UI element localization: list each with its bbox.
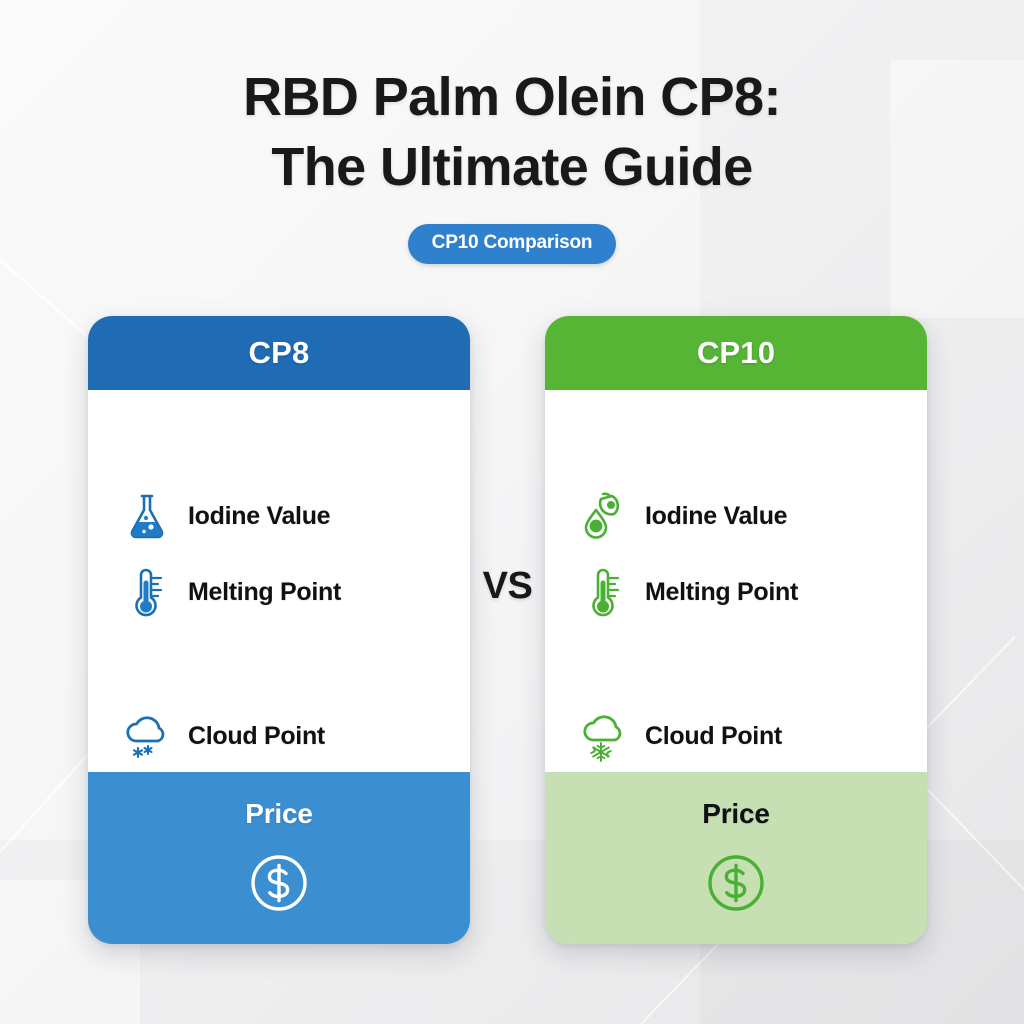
card-header-cp8: CP8 — [88, 316, 470, 390]
thermometer-icon — [581, 566, 627, 618]
feature-label-melting-point-cp10: Melting Point — [645, 578, 798, 607]
flask-icon — [124, 490, 170, 542]
thermometer-icon — [124, 566, 170, 618]
card-body-cp8: Iodine Value — [88, 390, 470, 772]
badge-container: CP10 Comparison — [0, 224, 1024, 264]
feature-row-iodine-value-cp10: Iodine Value — [581, 490, 907, 542]
card-title-cp10: CP10 — [697, 335, 775, 371]
feature-row-iodine-value-cp8: Iodine Value — [124, 490, 450, 542]
page-title-line-1: RBD Palm Olein CP8: — [0, 62, 1024, 132]
cloud-snow-icon — [124, 710, 170, 762]
price-label-cp8: Price — [245, 798, 313, 830]
dollar-circle-icon — [705, 852, 767, 914]
feature-label-melting-point-cp8: Melting Point — [188, 578, 341, 607]
card-header-cp10: CP10 — [545, 316, 927, 390]
price-label-cp10: Price — [702, 798, 770, 830]
oil-droplet-icon — [581, 490, 627, 542]
cloud-snow-icon — [581, 710, 627, 762]
comparison-badge: CP10 Comparison — [408, 224, 617, 264]
card-body-cp10: Iodine Value — [545, 390, 927, 772]
feature-label-cloud-point-cp8: Cloud Point — [188, 722, 325, 751]
feature-row-melting-point-cp8: Melting Point — [124, 566, 450, 618]
card-footer-cp8: Price — [88, 772, 470, 944]
card-title-cp8: CP8 — [249, 335, 310, 371]
feature-row-melting-point-cp10: Melting Point — [581, 566, 907, 618]
dollar-circle-icon — [248, 852, 310, 914]
feature-label-iodine-value-cp8: Iodine Value — [188, 502, 330, 531]
feature-row-cloud-point-cp8: Cloud Point — [124, 710, 450, 762]
comparison-card-cp10: CP10 Iodine Value — [545, 316, 927, 944]
feature-label-cloud-point-cp10: Cloud Point — [645, 722, 782, 751]
page-title-line-2: The Ultimate Guide — [0, 132, 1024, 202]
card-footer-cp10: Price — [545, 772, 927, 944]
feature-row-cloud-point-cp10: Cloud Point — [581, 710, 907, 762]
comparison-card-cp8: CP8 Iodine Value — [88, 316, 470, 944]
vs-divider: VS — [470, 565, 545, 608]
infographic-canvas: RBD Palm Olein CP8: The Ultimate Guide C… — [0, 0, 1024, 1024]
feature-label-iodine-value-cp10: Iodine Value — [645, 502, 787, 531]
page-header: RBD Palm Olein CP8: The Ultimate Guide C… — [0, 62, 1024, 264]
